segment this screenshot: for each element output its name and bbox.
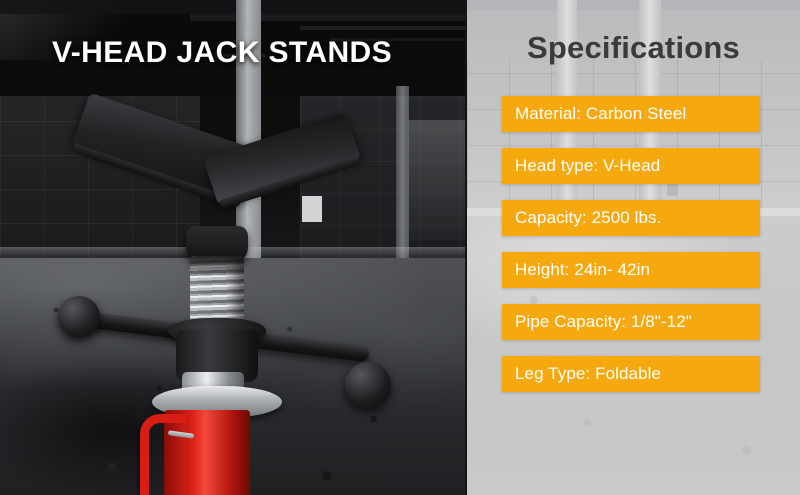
spec-row-height: Height: 24in- 42in: [502, 252, 760, 288]
handle-ball-knob-left: [58, 296, 100, 338]
specifications-panel: Specifications Material: Carbon Steel He…: [467, 0, 800, 495]
product-photo-panel: V-HEAD JACK STANDS: [0, 0, 467, 495]
specifications-list: Material: Carbon Steel Head type: V-Head…: [502, 96, 760, 408]
spec-text: Leg Type: Foldable: [502, 364, 661, 384]
spec-row-leg-type: Leg Type: Foldable: [502, 356, 760, 392]
spec-text: Pipe Capacity: 1/8"-12": [502, 312, 692, 332]
spec-row-material: Material: Carbon Steel: [502, 96, 760, 132]
spec-text: Material: Carbon Steel: [502, 104, 686, 124]
spec-text: Capacity: 2500 lbs.: [502, 208, 661, 228]
spec-row-head-type: Head type: V-Head: [502, 148, 760, 184]
handle-ball-knob-right: [345, 362, 391, 408]
spec-text: Height: 24in- 42in: [502, 260, 650, 280]
spec-row-capacity: Capacity: 2500 lbs.: [502, 200, 760, 236]
specifications-heading: Specifications: [467, 30, 800, 66]
ghost-ceiling-beam: [467, 0, 800, 10]
screw-shadow: [190, 256, 244, 276]
spec-row-pipe-capacity: Pipe Capacity: 1/8"-12": [502, 304, 760, 340]
v-head-right-wing: [203, 112, 360, 204]
red-pin-clip: [140, 414, 187, 495]
product-spec-banner: V-HEAD JACK STANDS Specifications Materi…: [0, 0, 800, 495]
jack-stand-product: [0, 0, 467, 495]
spec-text: Head type: V-Head: [502, 156, 660, 176]
page-title: V-HEAD JACK STANDS: [52, 36, 392, 70]
